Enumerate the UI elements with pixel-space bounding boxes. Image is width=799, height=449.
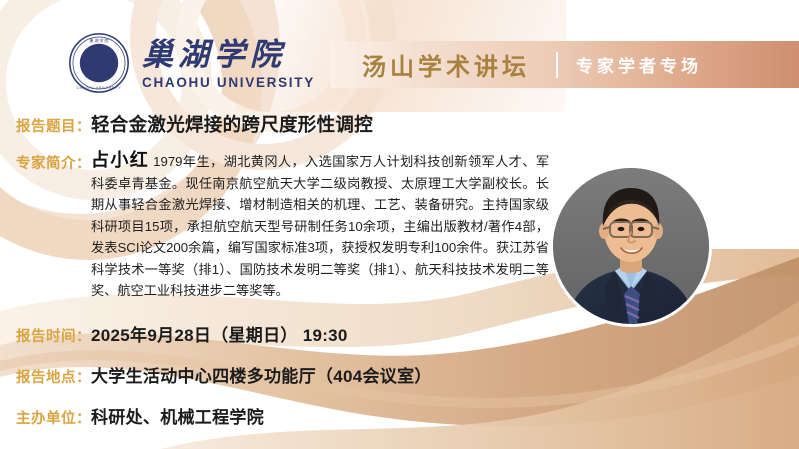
svg-text:1977: 1977	[95, 69, 103, 73]
lecture-poster: 1977 巢 湖 学 院 CHAOHU UNIVERSITY 巢湖学院 CHAO…	[0, 0, 799, 449]
title-label: 报告题目：	[16, 115, 91, 136]
time-label: 报告时间：	[16, 325, 91, 346]
field-place: 报告地点： 大学生活动中心四楼多功能厅（404会议室）	[0, 362, 799, 387]
poster-header: 1977 巢 湖 学 院 CHAOHU UNIVERSITY 巢湖学院 CHAO…	[0, 0, 799, 104]
place-label: 报告地点：	[16, 366, 91, 387]
time-value: 2025年9月28日（星期日） 19:30	[91, 321, 348, 346]
bio-text: 1979年生，湖北黄冈人，入选国家万人计划科技创新领军人才、军科委卓青基金。现任…	[91, 154, 549, 298]
field-host: 主办单位： 科研处、机械工程学院	[0, 403, 799, 428]
ribbon-subtitle: 专家学者专场	[576, 52, 702, 77]
brand-text-block: 巢湖学院 CHAOHU UNIVERSITY	[142, 38, 315, 89]
speaker-portrait-image	[553, 168, 709, 324]
svg-text:CHAOHU UNIVERSITY: CHAOHU UNIVERSITY	[77, 86, 122, 90]
ribbon-divider	[556, 52, 558, 78]
title-value: 轻合金激光焊接的跨尺度形性调控	[91, 111, 373, 137]
svg-text:巢 湖 学 院: 巢 湖 学 院	[89, 37, 108, 43]
university-brand: 1977 巢 湖 学 院 CHAOHU UNIVERSITY 巢湖学院 CHAO…	[68, 32, 315, 94]
ribbon-main-title: 汤山学术讲坛	[362, 47, 530, 82]
field-title: 报告题目： 轻合金激光焊接的跨尺度形性调控	[0, 111, 799, 137]
event-ribbon: 汤山学术讲坛 专家学者专场	[330, 41, 799, 88]
bio-body: 占小红1979年生，湖北黄冈人，入选国家万人计划科技创新领军人才、军科委卓青基金…	[91, 150, 549, 302]
bio-label: 专家简介：	[16, 152, 91, 173]
university-seal-icon: 1977 巢 湖 学 院 CHAOHU UNIVERSITY	[68, 32, 130, 94]
field-time: 报告时间： 2025年9月28日（星期日） 19:30	[0, 321, 799, 346]
place-value: 大学生活动中心四楼多功能厅（404会议室）	[91, 362, 432, 387]
university-name-en: CHAOHU UNIVERSITY	[142, 75, 315, 90]
speaker-portrait	[553, 168, 709, 324]
host-value: 科研处、机械工程学院	[91, 403, 264, 428]
host-label: 主办单位：	[16, 407, 91, 428]
speaker-name: 占小红	[91, 150, 149, 170]
university-name-cn: 巢湖学院	[142, 38, 315, 71]
